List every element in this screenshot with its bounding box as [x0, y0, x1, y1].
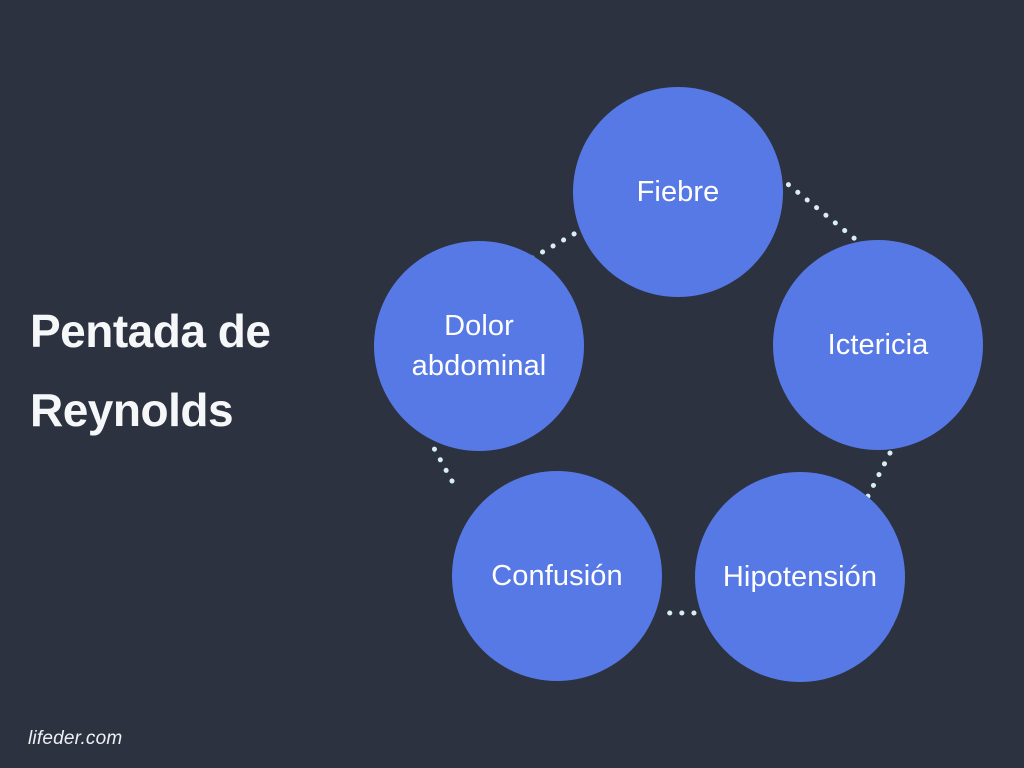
node-label-dolor-abdominal: Dolor abdominal	[402, 306, 557, 386]
connector-confusion-dolor-abdominal	[430, 441, 452, 481]
node-label-hipotension: Hipotensión	[713, 557, 887, 597]
node-label-ictericia: Ictericia	[818, 325, 939, 365]
connector-ictericia-hipotension	[867, 453, 890, 498]
node-fiebre[interactable]: Fiebre	[573, 87, 783, 297]
node-dolor-abdominal[interactable]: Dolor abdominal	[374, 241, 584, 451]
node-ictericia[interactable]: Ictericia	[773, 240, 983, 450]
source-watermark: lifeder.com	[28, 728, 122, 750]
connector-fiebre-ictericia	[779, 177, 860, 243]
node-label-fiebre: Fiebre	[627, 172, 730, 212]
node-label-confusion: Confusión	[481, 556, 633, 596]
pentagon-diagram: Fiebre Ictericia Hipotensión Confusión D…	[0, 0, 1024, 768]
node-hipotension[interactable]: Hipotensión	[695, 472, 905, 682]
node-confusion[interactable]: Confusión	[452, 471, 662, 681]
slide-canvas: Pentada de Reynolds Fiebre Ictericia	[0, 0, 1024, 768]
